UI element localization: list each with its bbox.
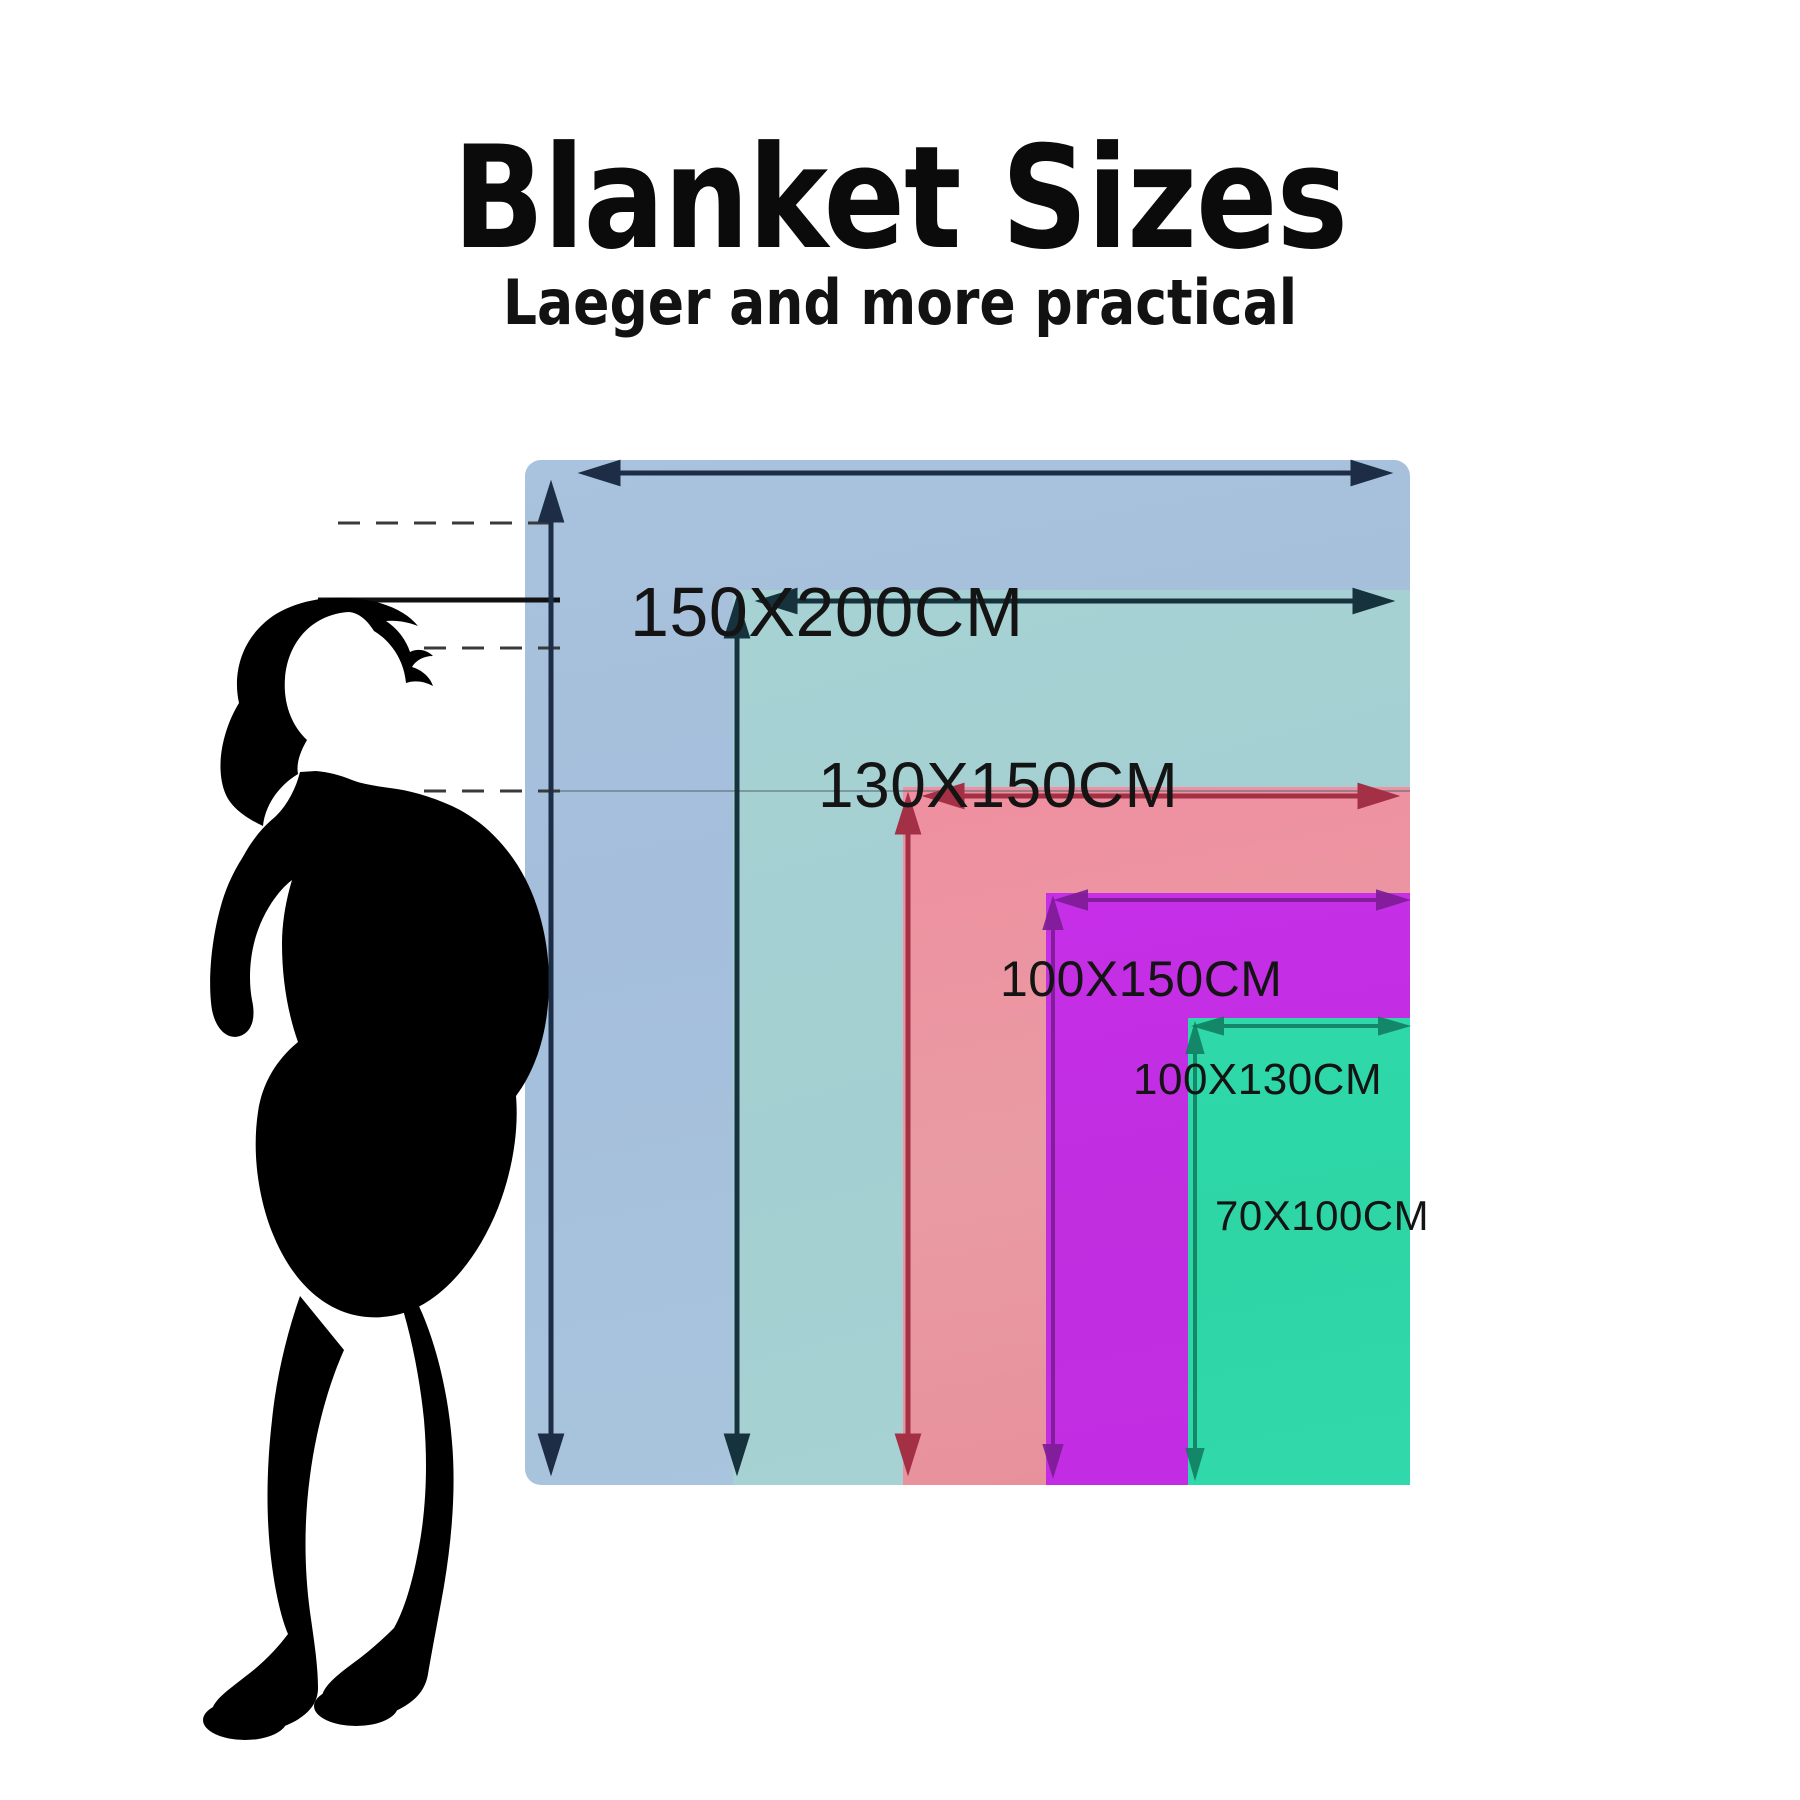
shoe-left	[203, 1700, 287, 1740]
width-arrow-150x200	[586, 463, 1385, 483]
size-label-100x150: 100X150CM	[1000, 950, 1282, 1008]
size-label-150x200: 150X200CM	[630, 572, 1024, 652]
width-arrow-100x130	[1060, 892, 1404, 908]
size-label-130x150: 130X150CM	[818, 748, 1178, 822]
infographic-canvas: Blanket Sizes Laeger and more practical	[0, 0, 1800, 1800]
width-arrow-70x100	[1198, 1019, 1404, 1033]
height-arrow-100x150	[898, 800, 918, 1468]
woman-silhouette	[203, 598, 549, 1740]
size-label-100x130: 100X130CM	[1133, 1055, 1382, 1105]
height-arrow-130x150	[727, 604, 747, 1468]
measurement-overlay	[0, 0, 1800, 1800]
size-label-70x100: 70X100CM	[1215, 1192, 1429, 1240]
shoe-right	[314, 1686, 398, 1726]
